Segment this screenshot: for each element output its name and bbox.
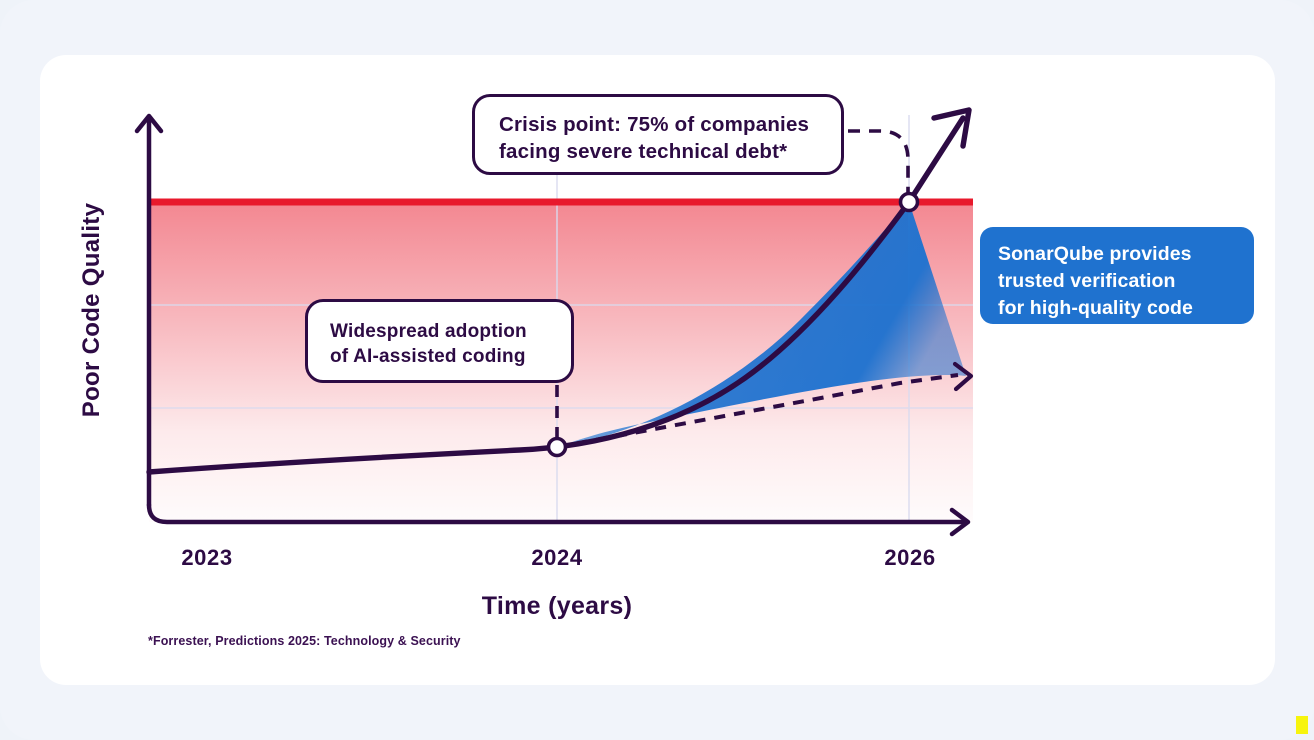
crisis-connector xyxy=(848,131,908,196)
source-footnote: *Forrester, Predictions 2025: Technology… xyxy=(148,634,461,648)
marker-crisis-point[interactable] xyxy=(901,194,918,211)
callout-ai-adoption[interactable]: Widespread adoption of AI-assisted codin… xyxy=(305,299,574,383)
y-axis-label: Poor Code Quality xyxy=(78,180,106,440)
badge-line1: SonarQube provides xyxy=(998,241,1254,268)
x-tick-label-2023: 2023 xyxy=(147,545,267,571)
marker-adoption-point[interactable] xyxy=(549,439,566,456)
x-tick-label-2026: 2026 xyxy=(850,545,970,571)
callout-adoption-line2: of AI-assisted coding xyxy=(330,344,555,369)
callout-crisis-point[interactable]: Crisis point: 75% of companies facing se… xyxy=(472,94,844,175)
badge-line3: for high-quality code xyxy=(998,295,1254,322)
chart-stage: Crisis point: 75% of companies facing se… xyxy=(0,0,1314,740)
callout-crisis-line1: Crisis point: 75% of companies xyxy=(499,111,823,138)
callout-adoption-line1: Widespread adoption xyxy=(330,319,555,344)
x-tick-label-2024: 2024 xyxy=(497,545,617,571)
callout-crisis-line2: facing severe technical debt* xyxy=(499,138,823,165)
corner-artifact xyxy=(1296,716,1308,734)
sonarqube-value-badge[interactable]: SonarQube provides trusted verification … xyxy=(980,227,1254,324)
x-axis-label: Time (years) xyxy=(400,592,714,621)
badge-line2: trusted verification xyxy=(998,268,1254,295)
